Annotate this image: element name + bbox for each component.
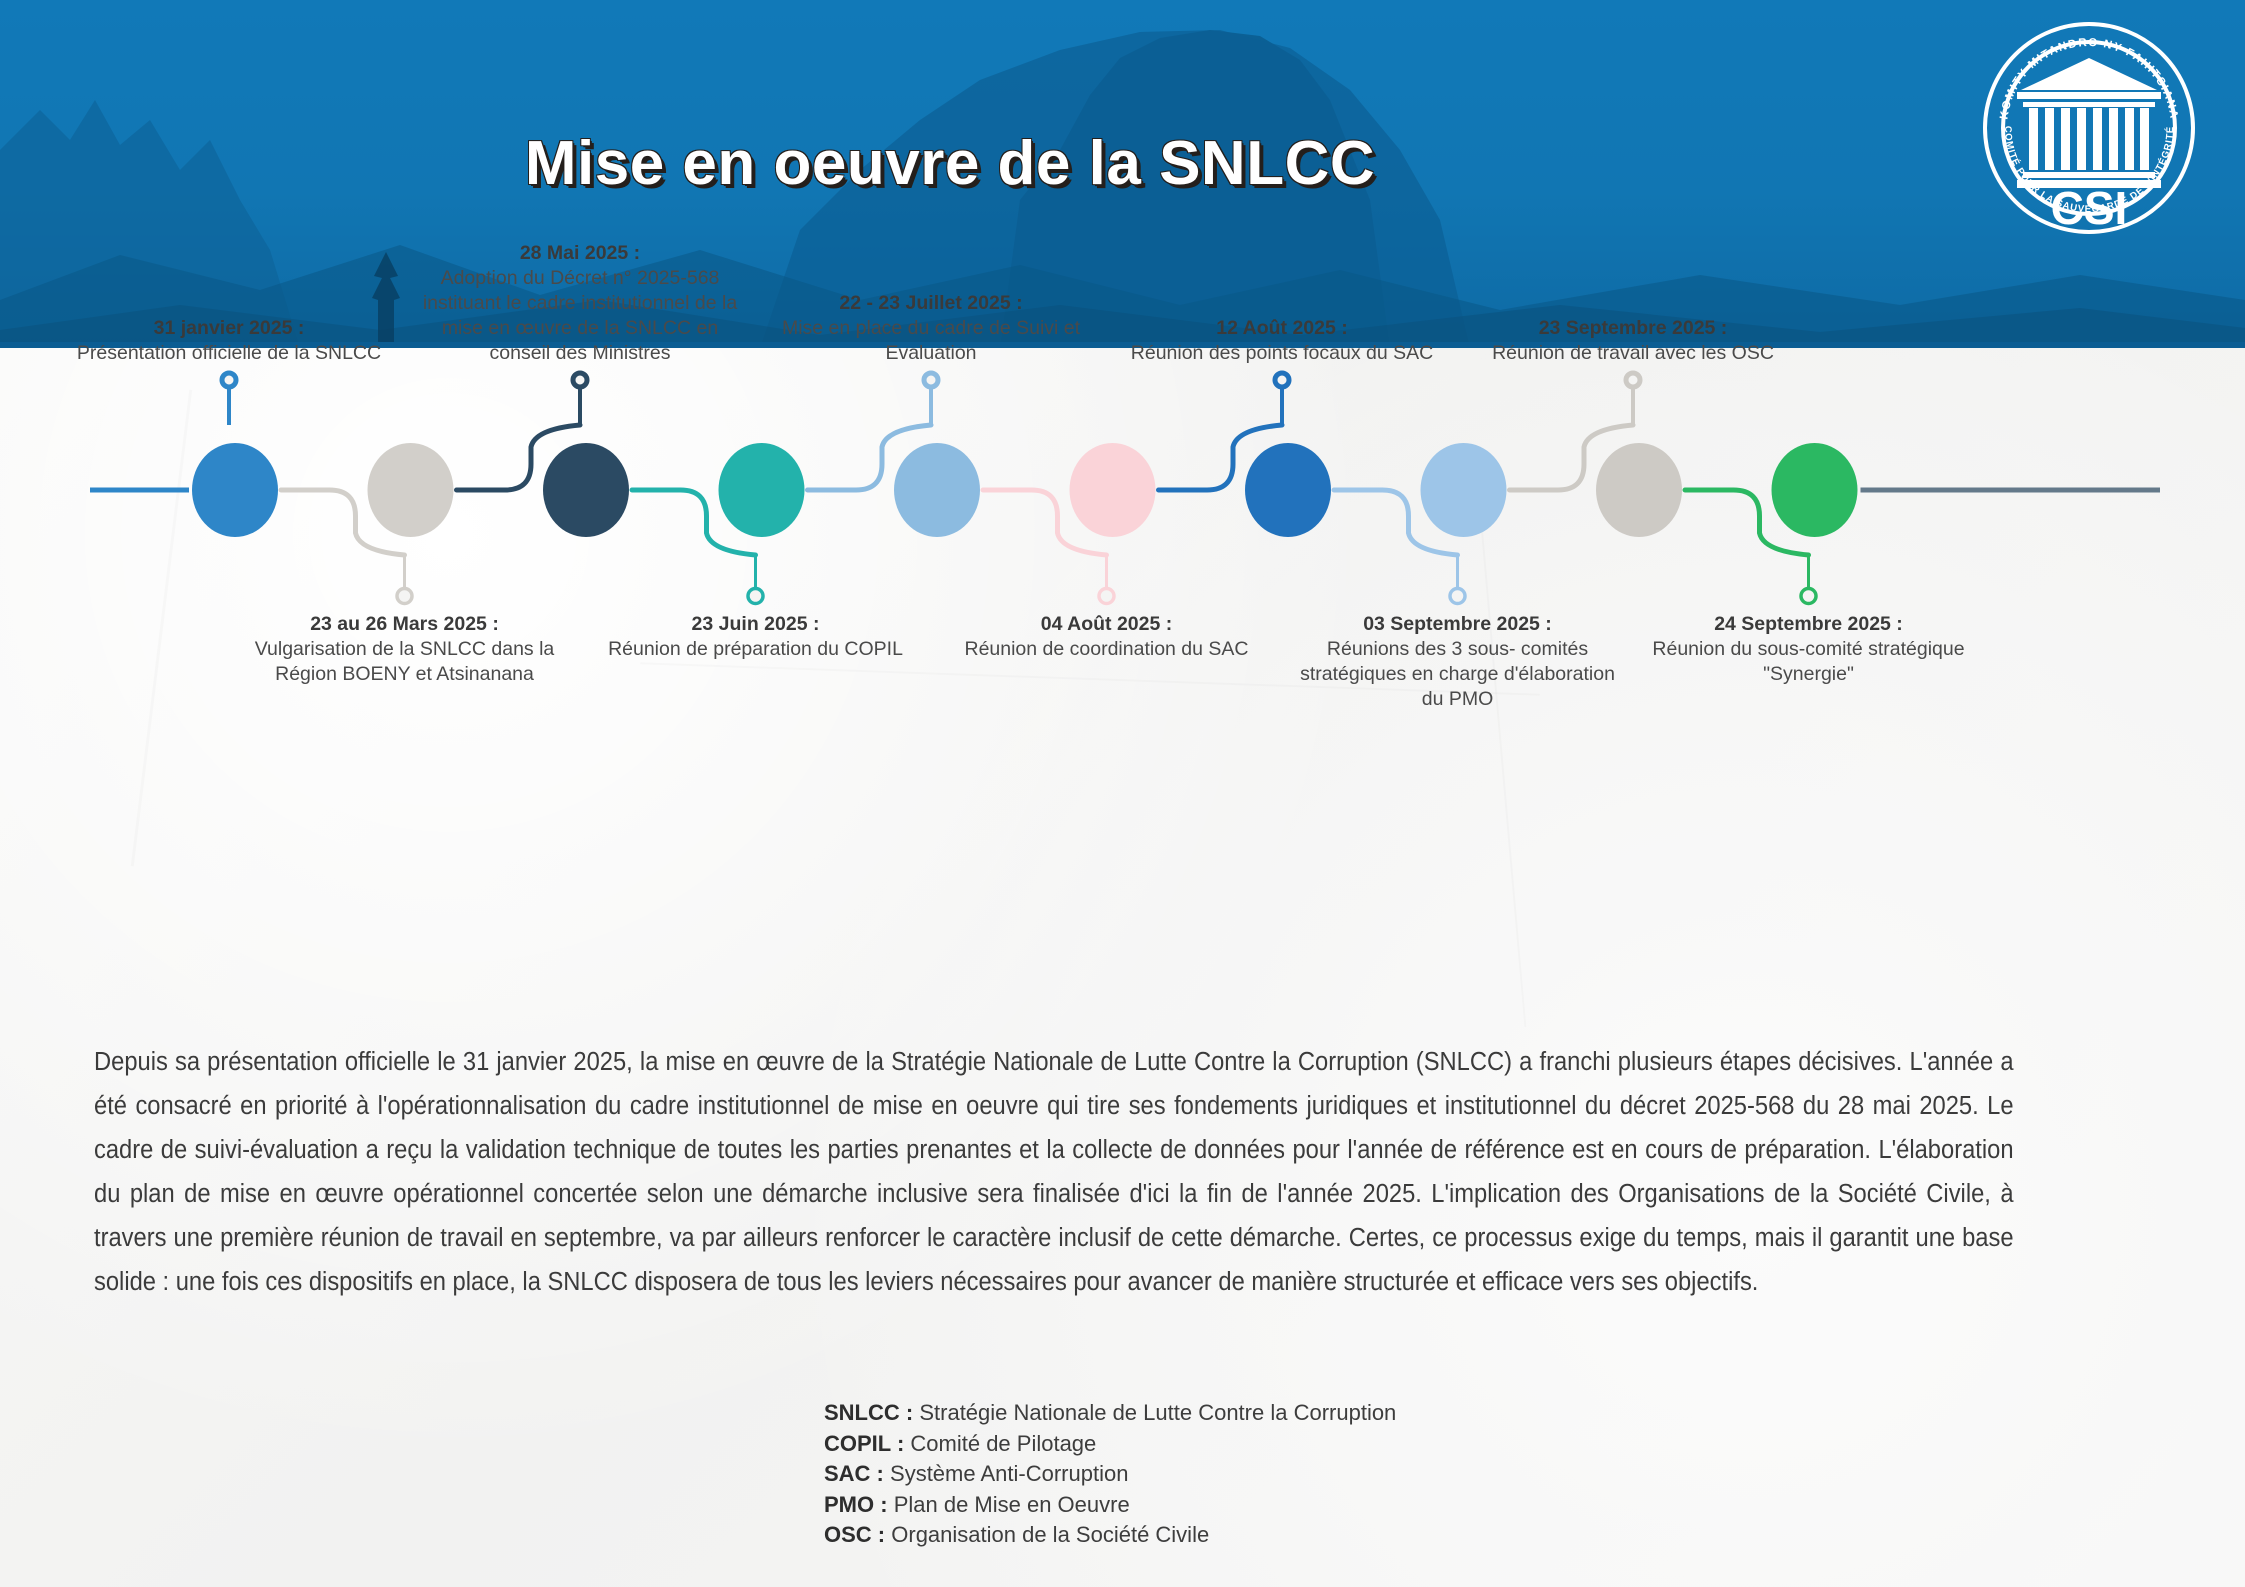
timeline-milestone-description: Réunion des points focaux du SAC [1117, 341, 1447, 366]
timeline-milestone-description: Vulgarisation de la SNLCC dans la Région… [240, 637, 570, 687]
timeline-milestone-label: 23 au 26 Mars 2025 :Vulgarisation de la … [240, 612, 570, 687]
timeline-milestone-description: Adoption du Décret n° 2025-568 instituan… [415, 266, 745, 366]
timeline-milestone-date: 24 Septembre 2025 : [1644, 612, 1974, 637]
glossary-term: SNLCC : [824, 1400, 913, 1425]
glossary-term: OSC : [824, 1522, 885, 1547]
classical-temple-icon [2017, 58, 2161, 188]
glossary-definition: Plan de Mise en Oeuvre [894, 1492, 1130, 1517]
glossary-definition: Organisation de la Société Civile [891, 1522, 1209, 1547]
timeline-milestone-date: 12 Août 2025 : [1117, 316, 1447, 341]
timeline-milestone-date: 23 Septembre 2025 : [1468, 316, 1798, 341]
timeline-milestone-label: 24 Septembre 2025 :Réunion du sous-comit… [1644, 612, 1974, 687]
timeline-milestone-date: 23 Juin 2025 : [591, 612, 921, 637]
timeline-milestone-description: Mise en place du cadre de Suivi et Evalu… [766, 316, 1096, 366]
timeline-milestone-label: 04 Août 2025 :Réunion de coordination du… [942, 612, 1272, 662]
glossary-row: COPIL : Comité de Pilotage [824, 1429, 1396, 1460]
csi-logo: CSI KOMITY MITANDRO NY FAHITSIANA COMITÉ… [1981, 20, 2197, 236]
timeline-milestone-label: 22 - 23 Juillet 2025 :Mise en place du c… [766, 291, 1096, 374]
header-banner: Mise en oeuvre de la SNLCC [0, 0, 2245, 348]
glossary-definition: Stratégie Nationale de Lutte Contre la C… [919, 1400, 1396, 1425]
glossary-row: PMO : Plan de Mise en Oeuvre [824, 1490, 1396, 1521]
summary-paragraph: Depuis sa présentation officielle le 31 … [94, 1040, 2014, 1304]
glossary-term: PMO : [824, 1492, 888, 1517]
timeline-milestone-date: 23 au 26 Mars 2025 : [240, 612, 570, 637]
acronym-glossary: SNLCC : Stratégie Nationale de Lutte Con… [824, 1398, 1396, 1551]
glossary-row: OSC : Organisation de la Société Civile [824, 1520, 1396, 1551]
timeline-milestone-description: Réunions des 3 sous- comités stratégique… [1293, 637, 1623, 712]
timeline-milestone-date: 28 Mai 2025 : [415, 241, 745, 266]
timeline-labels: 31 janvier 2025 :Présentation officielle… [0, 348, 2245, 968]
timeline-milestone-description: Réunion du sous-comité stratégique "Syne… [1644, 637, 1974, 687]
timeline-milestone-description: Présentation officielle de la SNLCC [64, 341, 394, 366]
timeline-milestone-date: 22 - 23 Juillet 2025 : [766, 291, 1096, 316]
timeline-milestone-description: Réunion de coordination du SAC [942, 637, 1272, 662]
timeline-milestone-label: 23 Juin 2025 :Réunion de préparation du … [591, 612, 921, 662]
timeline-milestone-label: 28 Mai 2025 :Adoption du Décret n° 2025-… [415, 241, 745, 374]
glossary-term: COPIL : [824, 1431, 904, 1456]
timeline-milestone-date: 04 Août 2025 : [942, 612, 1272, 637]
glossary-definition: Comité de Pilotage [910, 1431, 1096, 1456]
page-title: Mise en oeuvre de la SNLCC [0, 128, 1900, 199]
glossary-row: SNLCC : Stratégie Nationale de Lutte Con… [824, 1398, 1396, 1429]
glossary-term: SAC : [824, 1461, 884, 1486]
timeline-milestone-label: 23 Septembre 2025 :Réunion de travail av… [1468, 316, 1798, 374]
timeline-milestone-date: 03 Septembre 2025 : [1293, 612, 1623, 637]
timeline-milestone-description: Réunion de préparation du COPIL [591, 637, 921, 662]
timeline-milestone-label: 31 janvier 2025 :Présentation officielle… [64, 316, 394, 374]
timeline-milestone-label: 12 Août 2025 :Réunion des points focaux … [1117, 316, 1447, 374]
glossary-definition: Système Anti-Corruption [890, 1461, 1128, 1486]
timeline-milestone-description: Réunion de travail avec les OSC [1468, 341, 1798, 366]
infographic-page: Mise en oeuvre de la SNLCC [0, 0, 2245, 1587]
timeline-milestone-date: 31 janvier 2025 : [64, 316, 394, 341]
timeline-milestone-label: 03 Septembre 2025 :Réunions des 3 sous- … [1293, 612, 1623, 712]
glossary-row: SAC : Système Anti-Corruption [824, 1459, 1396, 1490]
